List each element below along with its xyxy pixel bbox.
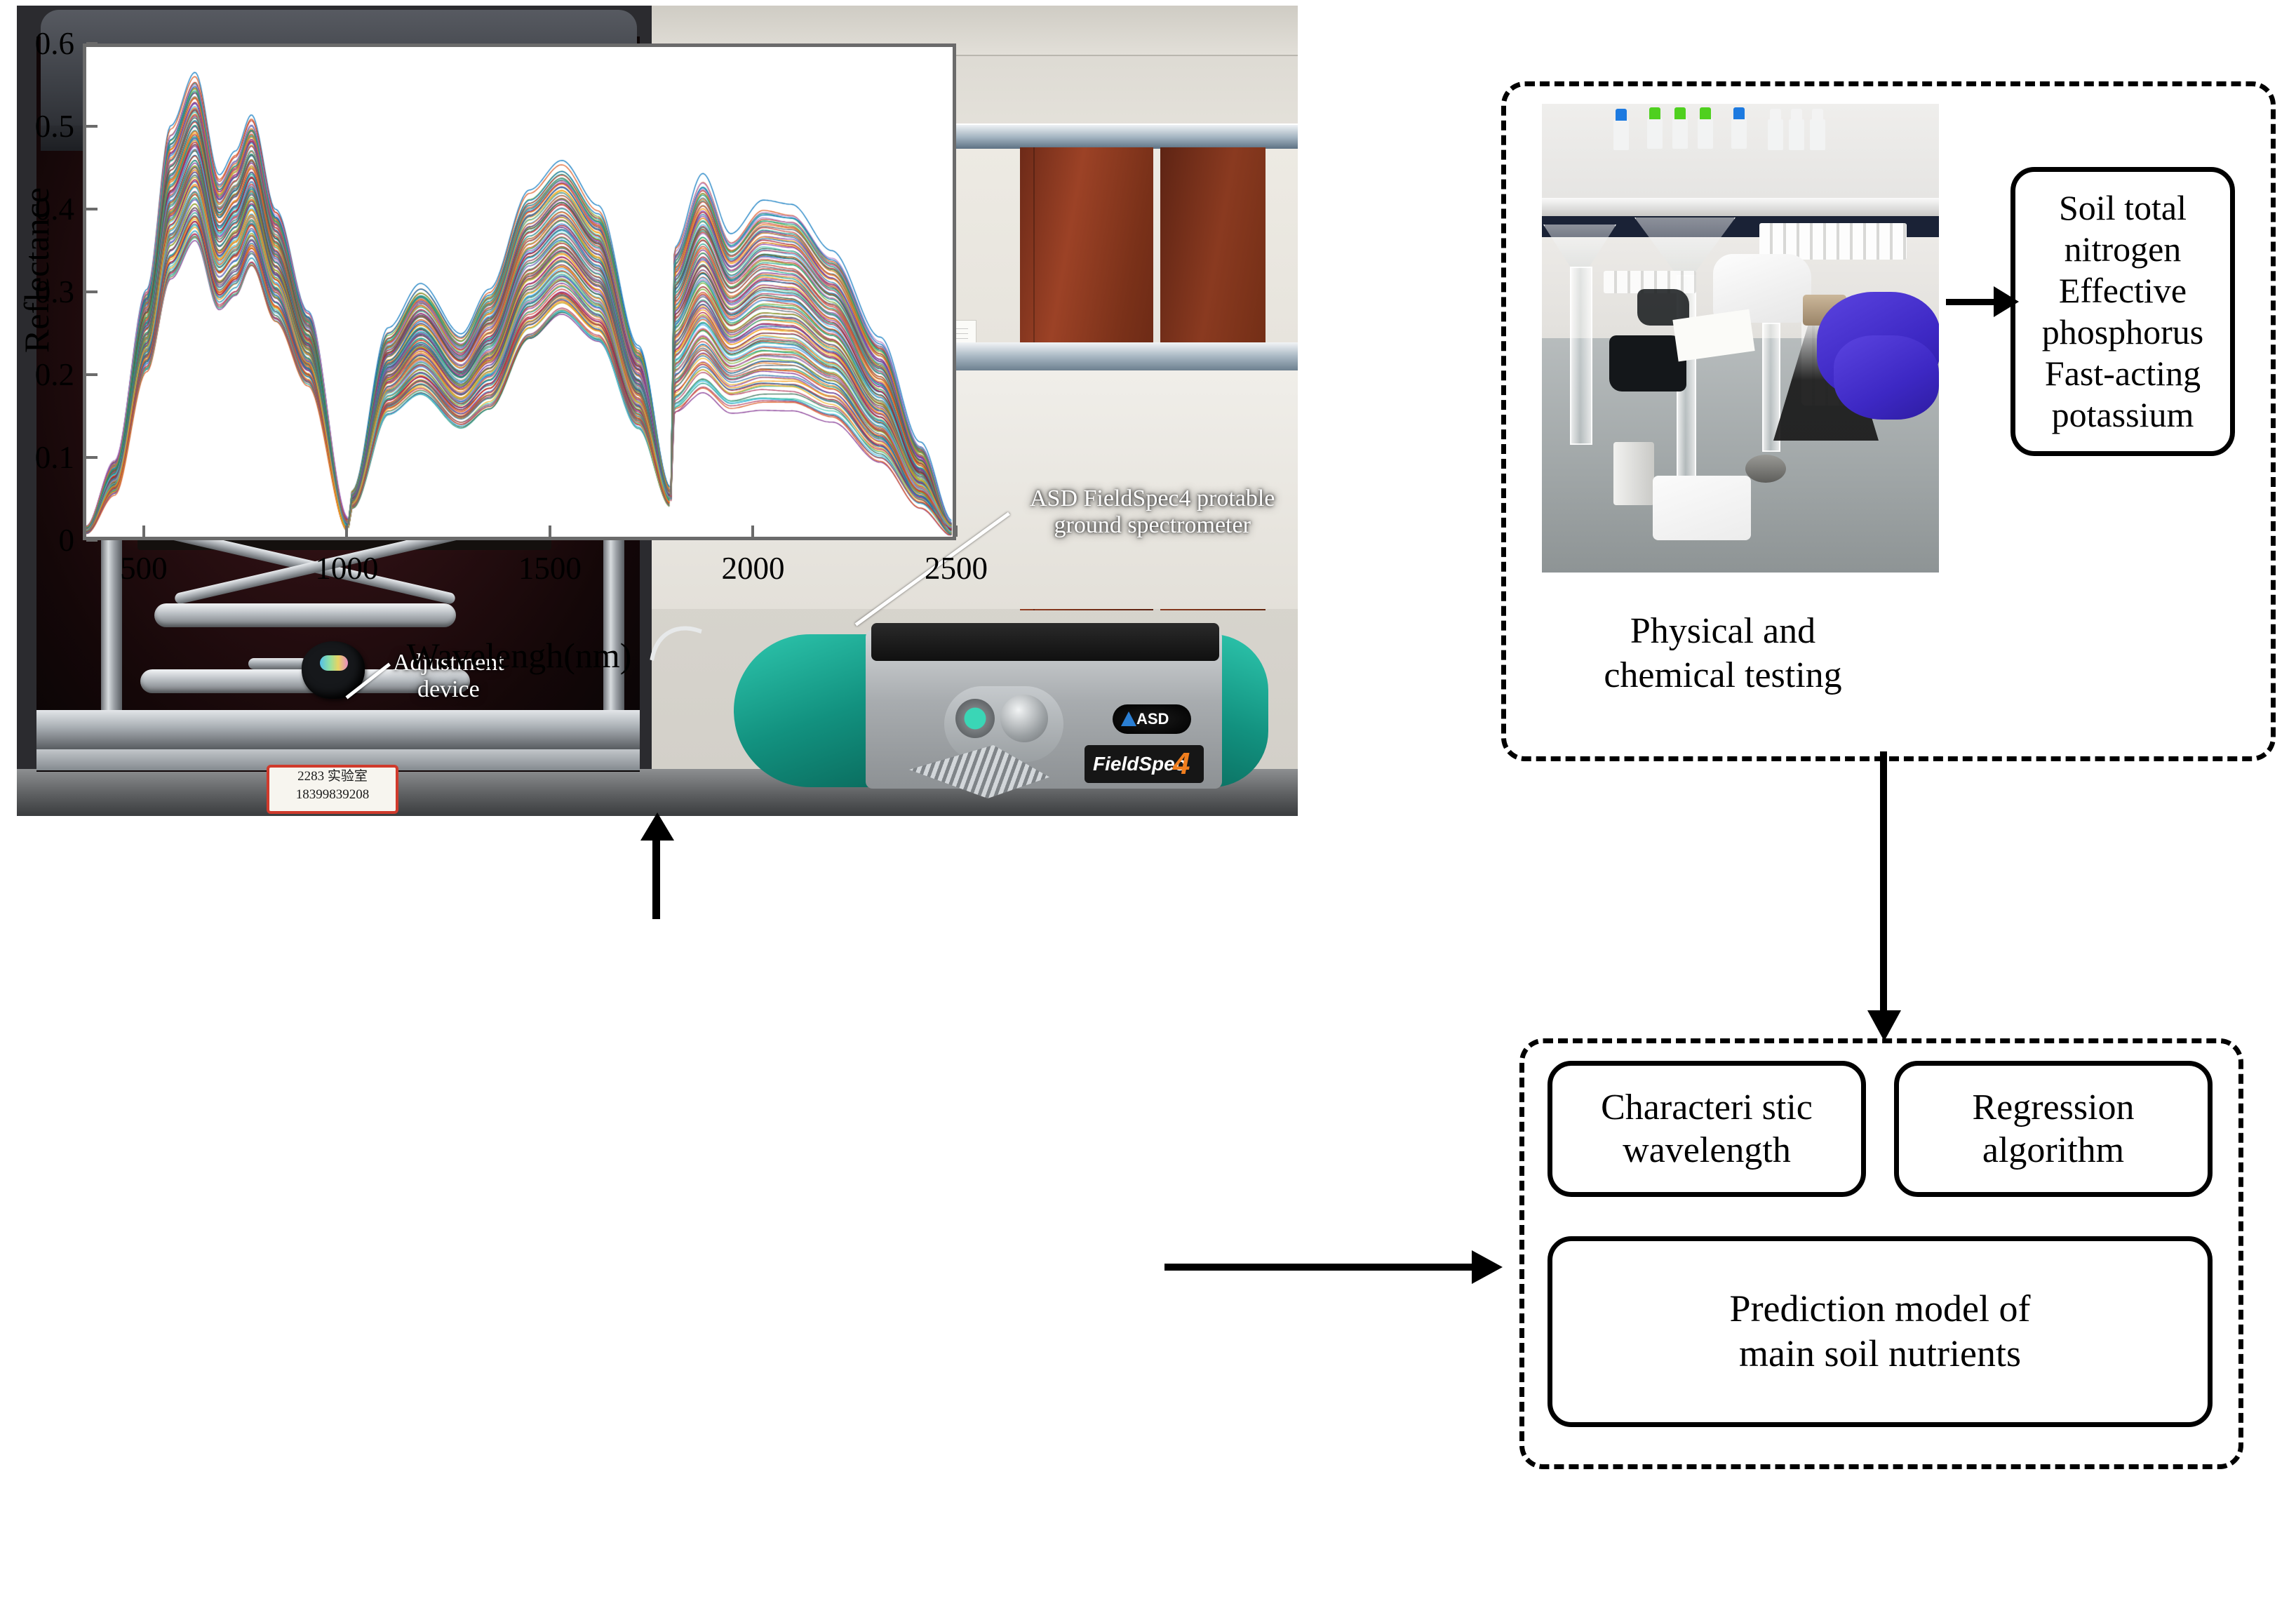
gloved-fingers [1834,335,1939,420]
x-tick-mark [345,526,348,537]
y-tick-mark [86,456,98,459]
arrow-chart-to-photo-head [640,812,674,841]
nutrient-output-box: Soil total nitrogen Effective phosphorus… [2010,167,2235,456]
y-axis-title: Reflectance [16,53,57,488]
x-tick-mark [549,526,551,537]
spectrometer-port[interactable] [955,699,995,738]
y-tick-mark [86,208,98,210]
asd-logo-icon [1121,711,1136,726]
fieldspec-model-text: FieldSpec [1093,753,1186,775]
fieldspec-number-text: 4 [1173,747,1190,782]
label-spectrometer: ASD FieldSpec4 protable ground spectrome… [1030,486,1275,539]
base-rail [36,710,640,752]
y-tick-mark [86,125,98,128]
guide-rail-upper [154,603,456,627]
x-tick-label: 2000 [690,550,816,587]
testing-caption: Physical and chemical testing [1526,609,1919,698]
reagent-bottle-blue-1 [1613,119,1629,150]
y-tick-mark [86,42,98,45]
reagent-bottle-white-2 [1789,119,1804,150]
x-tick-label: 500 [81,550,207,587]
black-bag [1609,335,1686,391]
asset-sticker-line2: 18399839208 [269,786,396,804]
x-tick-mark [955,526,958,537]
box-prediction-model: Prediction model of main soil nutrients [1548,1236,2213,1427]
tissue-paper [1653,476,1751,540]
graduated-cylinder-1 [1570,267,1592,445]
jar-cap [1745,455,1786,483]
box-characteristic-wavelength: Characteri stic wavelength [1548,1061,1866,1197]
arrow-chart-to-photo-shaft [652,835,660,919]
y-tick-mark [86,373,98,376]
arrow-testing-to-model-head [1867,1010,1901,1041]
x-tick-mark [751,526,754,537]
reagent-bottle-white-1 [1768,119,1783,150]
chemical-testing-photo [1542,104,1939,573]
y-tick-label: 0 [0,522,74,558]
lab-shelf [1542,198,1939,217]
spectrometer-fiber-socket[interactable] [1000,695,1048,742]
sample-jar [1613,442,1654,505]
reagent-bottle-green-3 [1698,118,1713,149]
y-tick-mark [86,290,98,293]
x-tick-label: 1000 [283,550,410,587]
spectra-canvas [86,47,953,537]
asd-brand-text: ASD [1136,710,1169,728]
asset-sticker: 2283 实验室 18399839208 [267,765,398,814]
reagent-bottle-white-3 [1810,119,1825,150]
arrow-chart-to-model-shaft [1164,1264,1480,1271]
x-tick-label: 1500 [487,550,613,587]
arrow-photo-to-nutrients-head [1994,286,2019,317]
box-regression-algorithm: Regression algorithm [1894,1061,2213,1197]
reagent-bottle-blue-2 [1731,118,1747,149]
x-axis-title: Wavelengh(nm) [0,635,1038,676]
asd-logo-badge: ASD [1113,704,1191,734]
asset-sticker-line1: 2283 实验室 [269,768,396,786]
reagent-bottle-green-1 [1647,118,1663,149]
arrow-chart-to-model-head [1472,1250,1503,1284]
fieldspec-badge: FieldSpec 4 [1085,745,1204,783]
reagent-bottle-green-2 [1672,118,1688,149]
arrow-photo-to-nutrients-shaft [1946,299,2001,305]
arrow-testing-to-model-shaft [1880,751,1887,1018]
x-tick-mark [142,526,145,537]
y-tick-mark [86,539,98,542]
x-tick-label: 2500 [893,550,1019,587]
